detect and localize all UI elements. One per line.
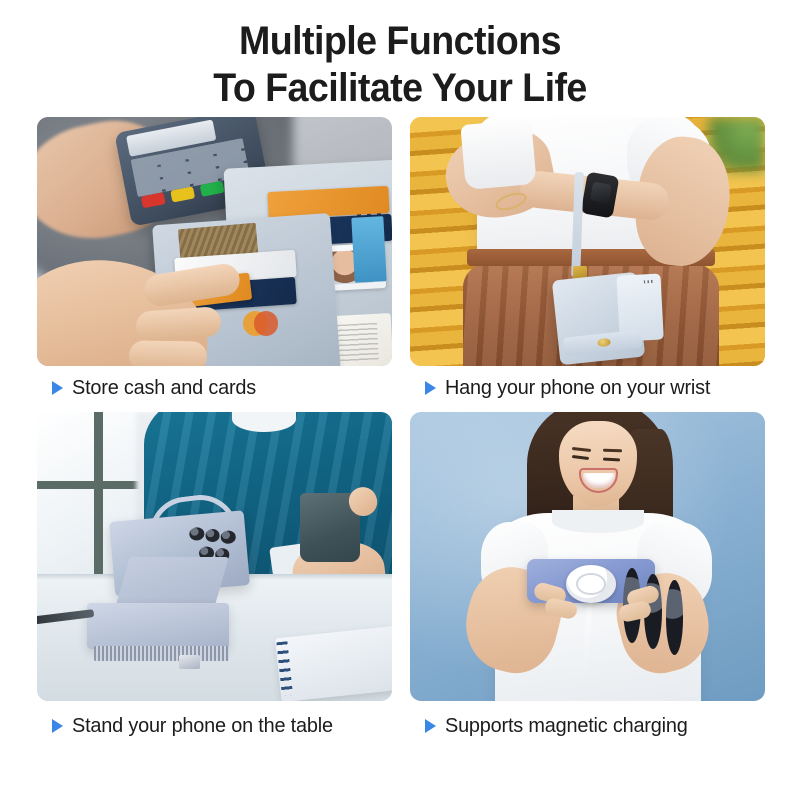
feature-grid: Store cash and cards <box>37 117 765 783</box>
feature-card-hang-on-wrist: Hang your phone on your wrist <box>410 117 765 406</box>
feature-caption-magnetic-charging: Supports magnetic charging <box>410 701 765 747</box>
triangle-right-icon <box>425 381 436 395</box>
feature-photo-store-cash-and-cards <box>37 117 392 366</box>
triangle-right-icon <box>52 719 63 733</box>
photo4-eye-left <box>572 455 589 460</box>
photo3-notebook-spiral-binding <box>277 641 294 697</box>
photo4-magnetic-charger <box>566 565 616 603</box>
feature-card-magnetic-charging: Supports magnetic charging <box>410 412 765 783</box>
feature-caption-text: Hang your phone on your wrist <box>445 376 710 400</box>
feature-photo-stand-on-table <box>37 412 392 701</box>
photo4-eyebrow-left <box>571 447 590 452</box>
photo1-terminal-key-red <box>141 193 166 209</box>
photo4-eyebrow-right <box>603 449 622 453</box>
photo2-wallet-case <box>551 272 645 365</box>
photo4-camera-lens-3 <box>666 580 684 655</box>
photo2-fitness-band-screen <box>590 182 611 204</box>
photo3-spiral-notebook <box>275 626 392 701</box>
photo3-case-base <box>87 603 229 649</box>
feature-photo-magnetic-charging <box>410 412 765 701</box>
photo1-terminal-key-green <box>200 181 225 197</box>
triangle-right-icon <box>425 719 436 733</box>
feature-caption-hang-on-wrist: Hang your phone on your wrist <box>410 366 765 406</box>
photo2-case-camera-dots <box>643 280 653 283</box>
triangle-right-icon <box>52 381 63 395</box>
feature-card-stand-on-table: Stand your phone on the table <box>37 412 392 783</box>
photo3-case-zipper <box>94 646 229 660</box>
photo4-eye-right <box>603 457 620 460</box>
photo3-camera-lens-3 <box>220 530 236 544</box>
photo1-terminal-key-amber <box>170 187 195 203</box>
feature-caption-text: Supports magnetic charging <box>445 714 688 738</box>
feature-caption-store-cash-and-cards: Store cash and cards <box>37 366 392 406</box>
feature-photo-hang-on-wrist <box>410 117 765 366</box>
page-title-line-2: To Facilitate Your Life <box>24 65 776 112</box>
photo3-camera-lens-2 <box>204 528 220 542</box>
feature-caption-stand-on-table: Stand your phone on the table <box>37 701 392 747</box>
feature-caption-text: Store cash and cards <box>72 376 256 400</box>
feature-card-store-cash-and-cards: Store cash and cards <box>37 117 392 406</box>
page-title: Multiple Functions To Facilitate Your Li… <box>24 18 776 112</box>
photo3-window-frame-horizontal <box>37 481 144 489</box>
photo3-zipper-pull <box>179 655 200 669</box>
page-title-line-1: Multiple Functions <box>24 18 776 65</box>
photo1-finger-3 <box>129 340 208 366</box>
photo1-finger-2 <box>135 306 222 342</box>
photo4-lips <box>579 468 618 492</box>
feature-caption-text: Stand your phone on the table <box>72 714 333 738</box>
photo3-window-frame-vertical <box>94 412 103 585</box>
photo3-camera-lens-1 <box>189 527 205 541</box>
photo1-mastercard-logo <box>243 311 279 336</box>
photo1-id-blue-strip <box>351 216 386 282</box>
infographic-page: Multiple Functions To Facilitate Your Li… <box>0 0 800 800</box>
photo2-paper-cup <box>461 119 537 190</box>
photo4-charger-ring <box>576 573 606 596</box>
